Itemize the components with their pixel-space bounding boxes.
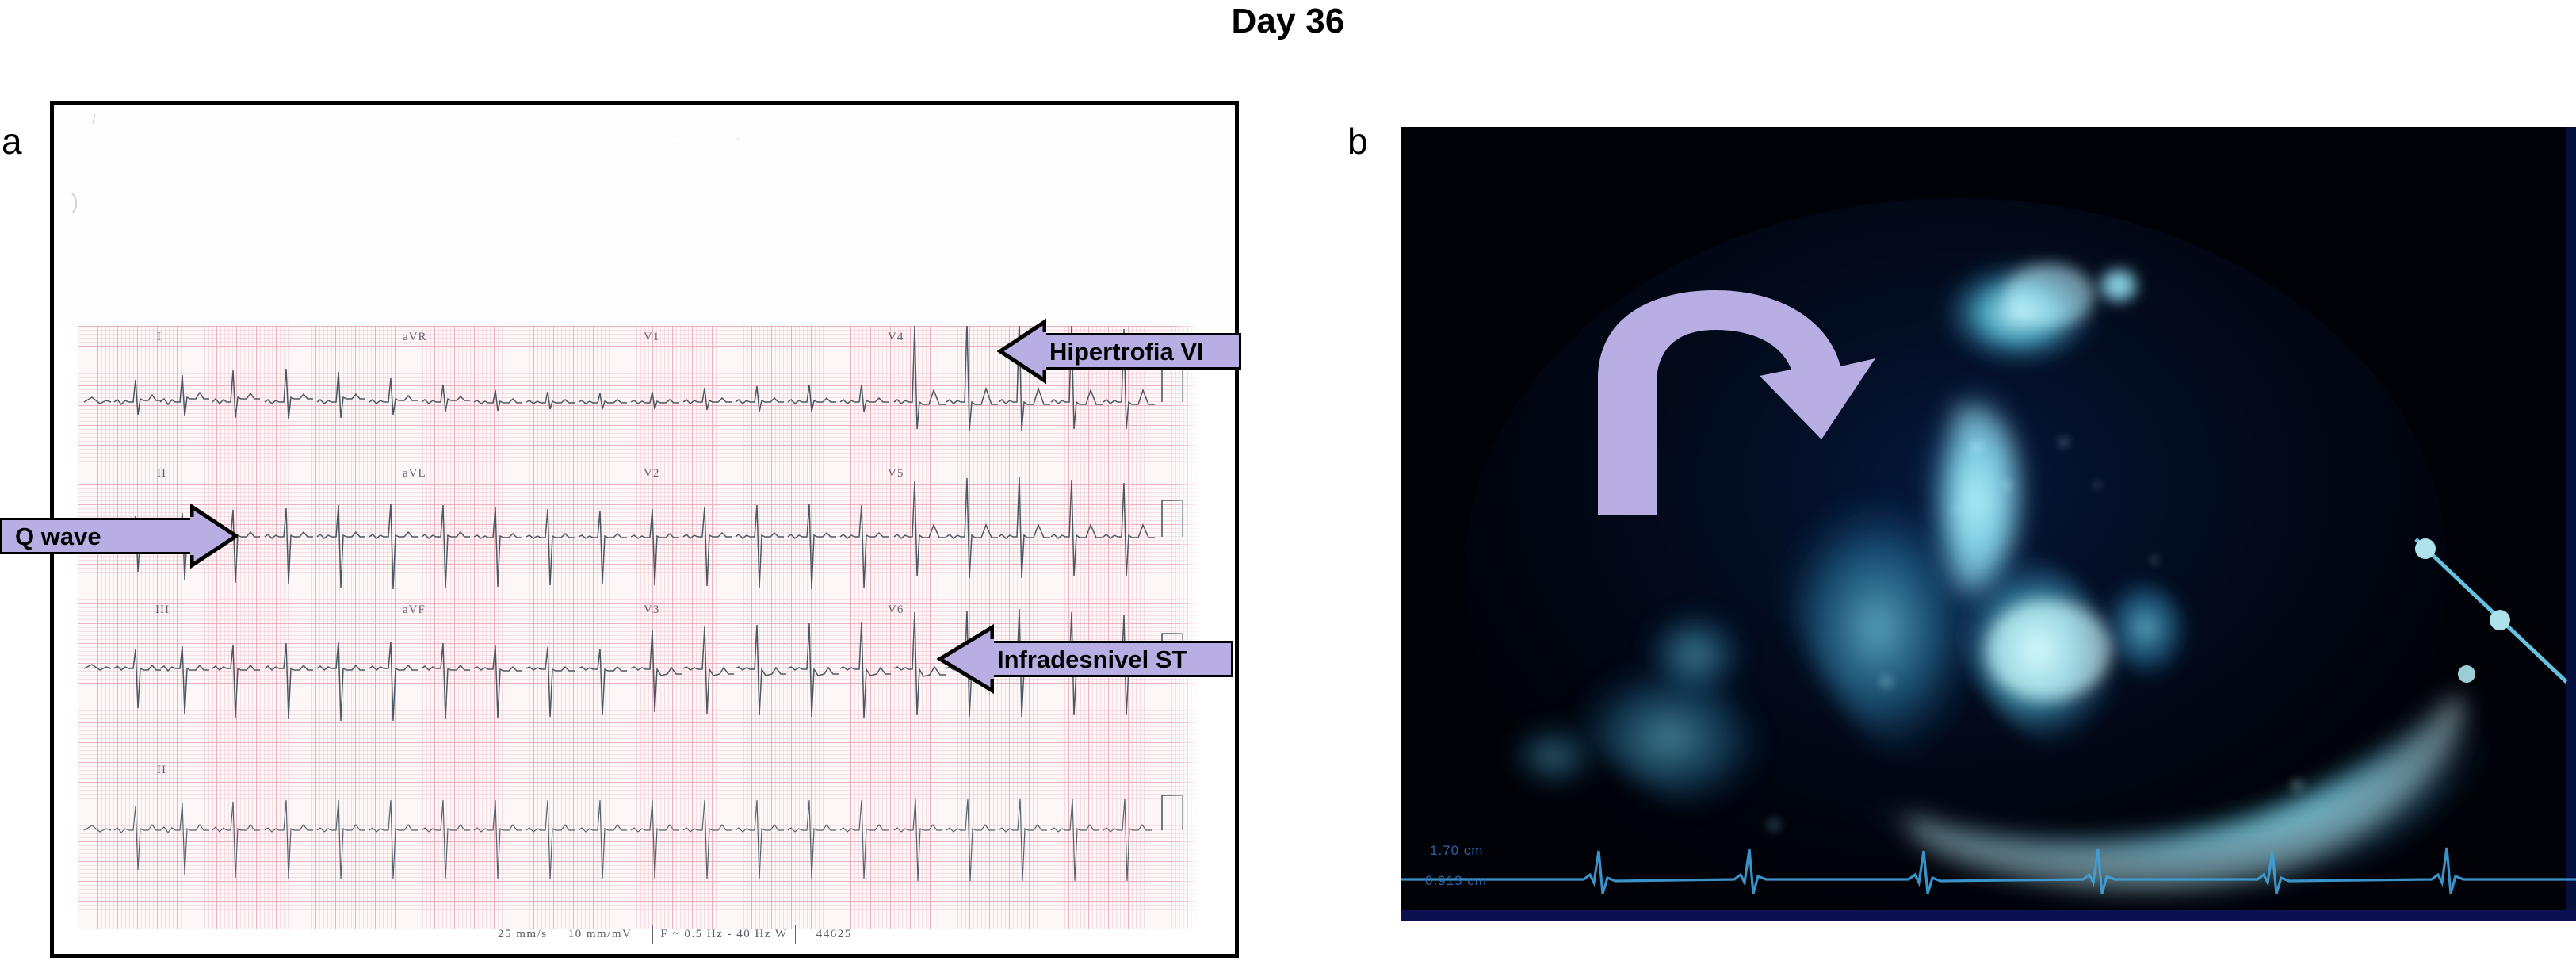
annotation-infradesnivel-bar: Infradesnivel ST xyxy=(994,641,1233,677)
lead-label-V5: V5 xyxy=(888,467,904,481)
scan-artifact-bracket: ) xyxy=(71,190,78,214)
lead-label-II: II xyxy=(157,467,166,481)
figure-title: Day 36 xyxy=(0,2,2576,41)
arrow-right-icon xyxy=(190,500,238,572)
arrow-left-icon xyxy=(997,316,1046,387)
ecg-row-2-trace xyxy=(78,461,1213,611)
echo-measurement-2: 0.913 cm xyxy=(1425,873,1487,889)
lead-label-V4: V4 xyxy=(888,331,904,344)
lead-label-III: III xyxy=(155,603,170,617)
scan-artifact-speck-2: · xyxy=(736,131,740,147)
echo-bottom-band xyxy=(1401,910,2576,921)
arrow-left-icon-2 xyxy=(937,621,994,697)
lead-label-aVF: aVF xyxy=(403,603,426,617)
echocardiogram-panel: 1.70 cm 0.913 cm xyxy=(1401,127,2576,921)
lead-label-aVL: aVL xyxy=(403,467,426,481)
annotation-infradesnivel-st: Infradesnivel ST xyxy=(937,621,1233,697)
ecg-record-id: 44625 xyxy=(816,928,852,941)
ecg-row-4-rhythm-strip xyxy=(78,757,1213,908)
lead-label-V3: V3 xyxy=(644,603,659,617)
lead-label-I: I xyxy=(157,331,162,344)
annotation-q-wave: Q wave xyxy=(0,500,238,572)
lead-label-V6: V6 xyxy=(888,603,904,617)
lead-label-V1: V1 xyxy=(644,331,659,344)
panel-label-b: b xyxy=(1347,123,1368,159)
scan-artifact-mark: / xyxy=(92,112,96,128)
annotation-hipertrofia-label: Hipertrofia VI xyxy=(1049,339,1204,364)
echo-ecg-trace xyxy=(1401,832,2576,900)
annotation-infradesnivel-label: Infradesnivel ST xyxy=(997,647,1187,672)
annotation-q-wave-label: Q wave xyxy=(15,524,101,549)
ecg-settings-footer: 25 mm/s 10 mm/mV F ~ 0.5 Hz - 40 Hz W 44… xyxy=(498,925,852,944)
scan-artifact-speck: · xyxy=(672,128,677,144)
ecg-sheet-top-margin: / ) · · xyxy=(54,105,1235,326)
panel-label-a: a xyxy=(2,123,22,159)
ecg-filter-setting: F ~ 0.5 Hz - 40 Hz W xyxy=(652,925,795,944)
lead-label-V2: V2 xyxy=(644,467,659,481)
echo-measurement-1: 1.70 cm xyxy=(1430,843,1483,859)
annotation-q-wave-bar: Q wave xyxy=(0,518,190,554)
echocardiogram-image xyxy=(1401,127,2576,921)
annotation-hipertrofia-vi: Hipertrofia VI xyxy=(997,316,1241,387)
ecg-gain: 10 mm/mV xyxy=(568,928,633,941)
annotation-hipertrofia-bar: Hipertrofia VI xyxy=(1046,333,1241,370)
lead-label-rhythm-II: II xyxy=(157,764,166,777)
ecg-paper-speed: 25 mm/s xyxy=(498,928,548,941)
lead-label-aVR: aVR xyxy=(403,331,427,344)
curved-arrow-icon xyxy=(1584,284,1924,522)
